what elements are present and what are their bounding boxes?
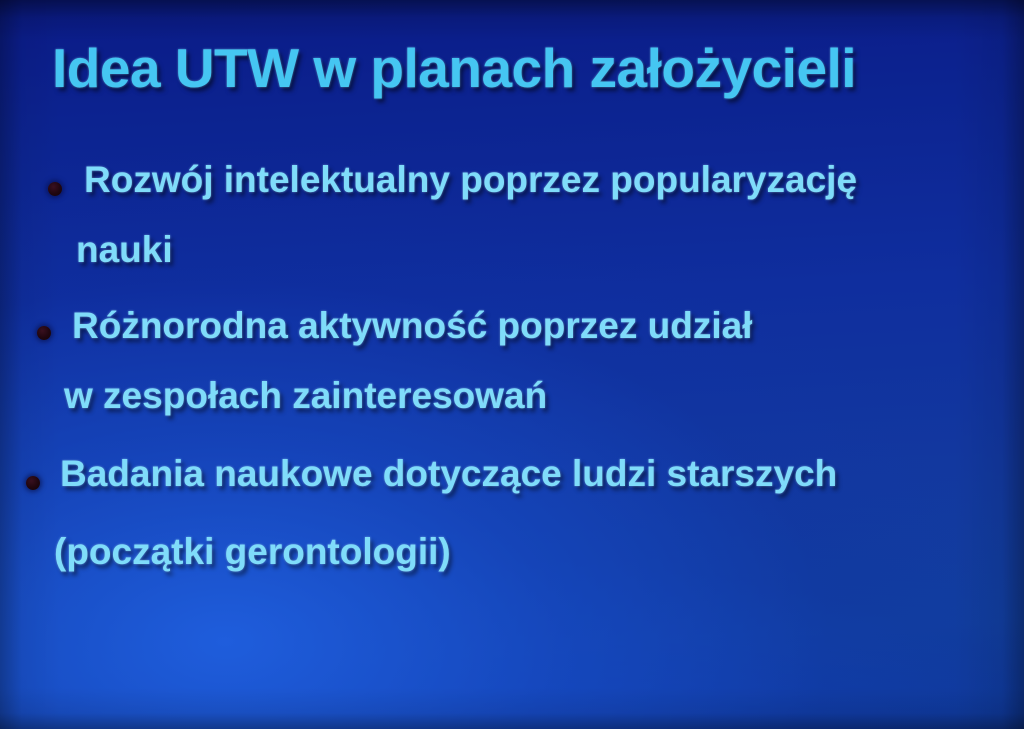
slide-title: Idea UTW w planach założycieli — [52, 36, 992, 100]
bullet-2-line-1: Różnorodna aktywność poprzez udział — [72, 304, 752, 348]
bullet-3-line-2: (początki gerontologii) — [54, 530, 451, 574]
bullet-1-line-2: nauki — [76, 228, 173, 272]
bullet-dot-icon — [48, 182, 62, 196]
bullet-1-line-1: Rozwój intelektualny poprzez popularyzac… — [84, 158, 857, 202]
presentation-slide: Idea UTW w planach założycieli Rozwój in… — [0, 0, 1024, 729]
bullet-dot-icon — [26, 476, 40, 490]
bullet-2-line-2: w zespołach zainteresowań — [64, 374, 547, 418]
bullet-dot-icon — [37, 326, 51, 340]
bullet-3-line-1: Badania naukowe dotyczące ludzi starszyc… — [60, 452, 837, 496]
